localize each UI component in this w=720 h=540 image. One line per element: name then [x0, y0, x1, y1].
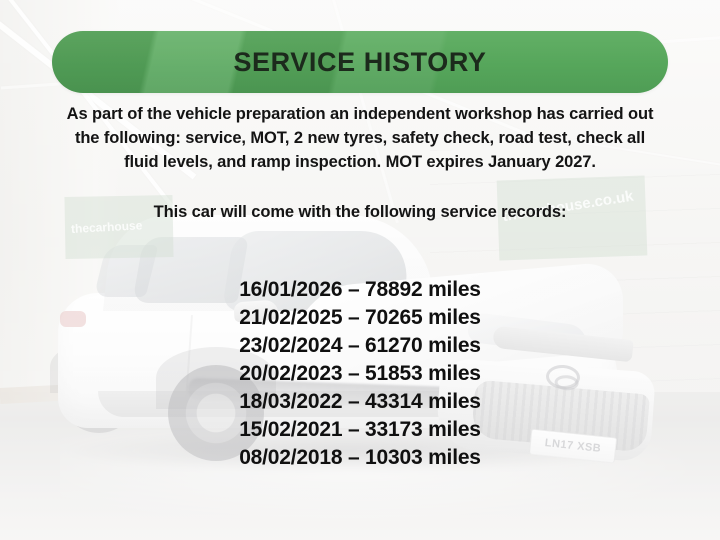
service-record-item: 08/02/2018 – 10303 miles — [8, 444, 712, 472]
service-record-item: 15/02/2021 – 33173 miles — [8, 416, 712, 444]
service-record-item: 23/02/2024 – 61270 miles — [8, 332, 712, 360]
preparation-description: As part of the vehicle preparation an in… — [8, 102, 712, 174]
service-record-item: 18/03/2022 – 43314 miles — [8, 388, 712, 416]
description-line: As part of the vehicle preparation an in… — [8, 102, 712, 126]
service-history-graphic: LN17 XSB thecarhouse thecarhouse.co.uk S… — [0, 0, 720, 540]
service-history-banner: SERVICE HISTORY — [52, 31, 668, 93]
service-record-item: 20/02/2023 – 51853 miles — [8, 360, 712, 388]
service-record-item: 21/02/2025 – 70265 miles — [8, 304, 712, 332]
service-records-list: 16/01/2026 – 78892 miles 21/02/2025 – 70… — [8, 276, 712, 472]
description-line: the following: service, MOT, 2 new tyres… — [8, 126, 712, 150]
overlay-content: SERVICE HISTORY As part of the vehicle p… — [0, 0, 720, 540]
page-title: SERVICE HISTORY — [233, 47, 486, 78]
service-record-item: 16/01/2026 – 78892 miles — [8, 276, 712, 304]
description-line: fluid levels, and ramp inspection. MOT e… — [8, 150, 712, 174]
records-subheading: This car will come with the following se… — [8, 203, 712, 222]
